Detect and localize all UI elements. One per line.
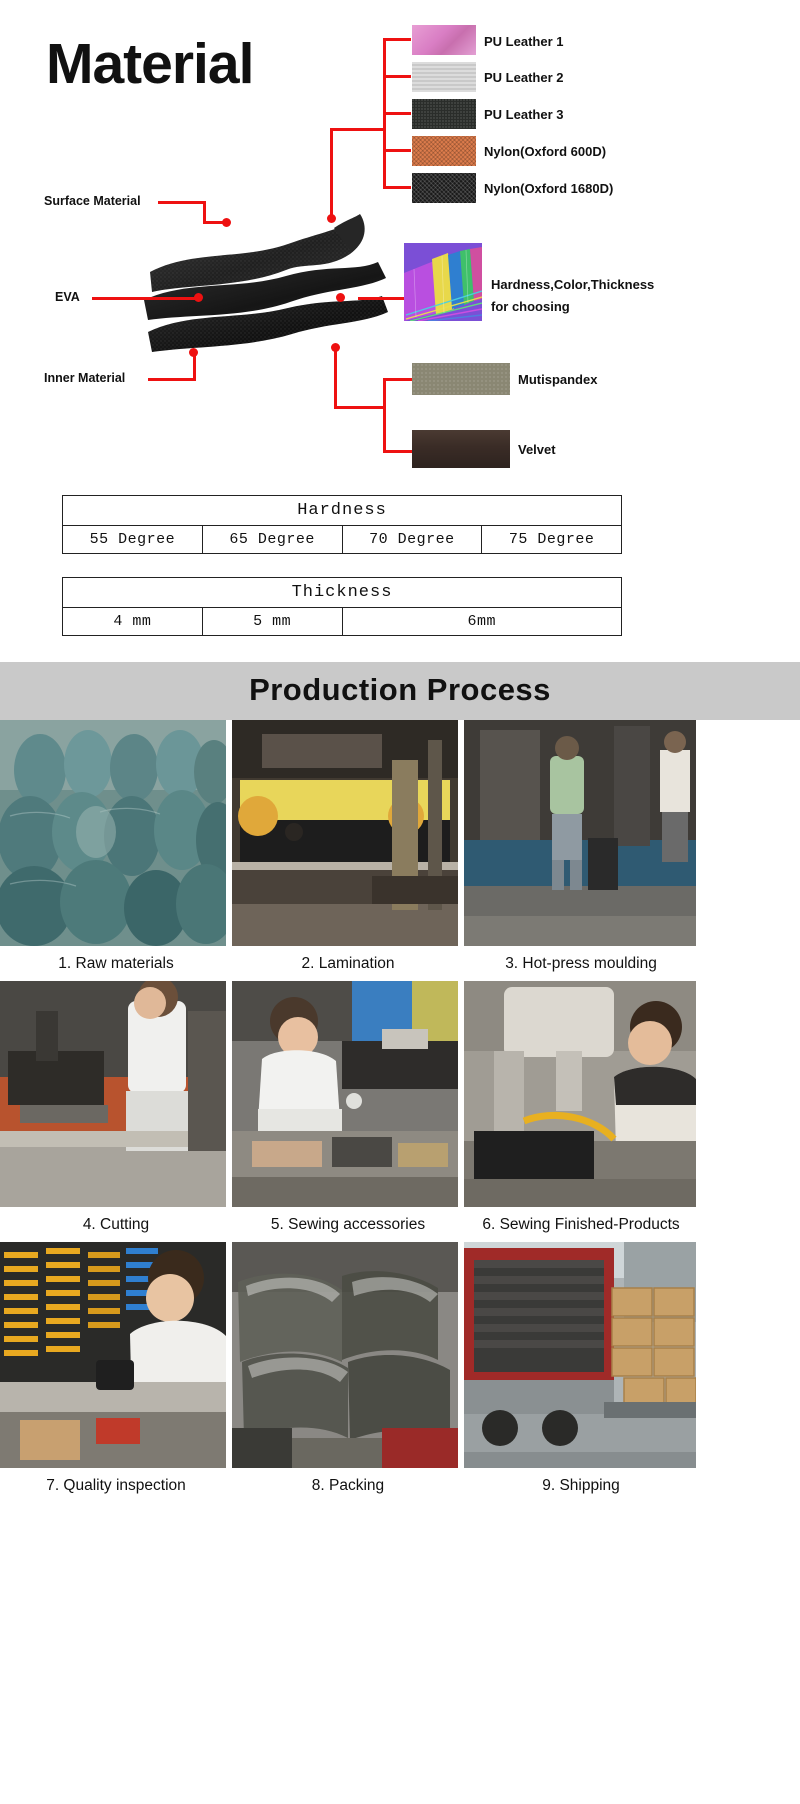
hardness-cell-3: 70 Degree (342, 526, 482, 554)
connector-surface-trunk-h (330, 128, 385, 131)
process-step-sewing-finished-products[interactable]: 6. Sewing Finished-Products (464, 981, 698, 1242)
swatch-label-nylon-1680d: Nylon(Oxford 1680D) (484, 181, 613, 196)
process-caption-7: 7. Quality inspection (0, 1468, 232, 1503)
swatch-pu-leather-1 (412, 25, 476, 55)
connector-surface-h (158, 201, 206, 204)
connector-eva-dot (194, 293, 203, 302)
process-caption-5: 5. Sewing accessories (232, 1207, 464, 1242)
connector-inner-branch-1 (383, 378, 413, 381)
connector-inner-branch-2 (383, 450, 413, 453)
production-process-banner: Production Process (0, 662, 800, 720)
photo-quality-inspection (0, 1242, 226, 1468)
production-process-title: Production Process (0, 672, 800, 708)
hardness-cell-4: 75 Degree (482, 526, 622, 554)
process-caption-9: 9. Shipping (464, 1468, 698, 1503)
swatch-label-pu-leather-1: PU Leather 1 (484, 34, 563, 49)
swatch-pu-leather-2 (412, 62, 476, 92)
hardness-value-row: 55 Degree 65 Degree 70 Degree 75 Degree (63, 526, 622, 554)
process-caption-8: 8. Packing (232, 1468, 464, 1503)
page-title: Material (46, 36, 253, 93)
connector-inner-dot (189, 348, 198, 357)
label-eva: EVA (55, 290, 80, 304)
swatch-eva-sheets (404, 243, 482, 321)
process-caption-3: 3. Hot-press moulding (464, 946, 698, 981)
swatch-label-velvet: Velvet (518, 442, 556, 457)
connector-surface-dot (222, 218, 231, 227)
process-step-hot-press-moulding[interactable]: 3. Hot-press moulding (464, 720, 698, 981)
foam-layer-diagram (120, 200, 400, 400)
label-inner-material: Inner Material (44, 371, 125, 385)
swatch-nylon-600d (412, 136, 476, 166)
thickness-header: Thickness (63, 578, 622, 608)
connector-inner-right-v (334, 347, 337, 409)
hardness-header-row: Hardness (63, 496, 622, 526)
photo-raw-materials (0, 720, 226, 946)
process-step-quality-inspection[interactable]: 7. Quality inspection (0, 1242, 232, 1503)
production-process-grid: 1. Raw materials (0, 720, 800, 1503)
hardness-table: Hardness 55 Degree 65 Degree 70 Degree 7… (62, 495, 622, 554)
swatch-label-nylon-600d: Nylon(Oxford 600D) (484, 144, 606, 159)
connector-inner-bus (383, 378, 386, 453)
photo-cutting (0, 981, 226, 1207)
connector-eva-h (92, 297, 200, 300)
process-caption-2: 2. Lamination (232, 946, 464, 981)
process-step-lamination[interactable]: 2. Lamination (232, 720, 464, 981)
swatch-label-pu-leather-2: PU Leather 2 (484, 70, 563, 85)
photo-shipping (464, 1242, 696, 1468)
connector-eva-right-dot (336, 293, 345, 302)
photo-hot-press-moulding (464, 720, 696, 946)
photo-packing (232, 1242, 458, 1468)
process-row-3: 7. Quality inspection (0, 1242, 800, 1503)
swatch-nylon-1680d (412, 173, 476, 203)
swatch-label-eva-line1: Hardness,Color,Thickness (491, 277, 654, 292)
connector-branch-2 (383, 75, 411, 78)
photo-sewing-accessories (232, 981, 458, 1207)
connector-branch-3 (383, 112, 411, 115)
thickness-table: Thickness 4 mm 5 mm 6mm (62, 577, 622, 636)
swatch-label-mutispandex: Mutispandex (518, 372, 597, 387)
process-step-raw-materials[interactable]: 1. Raw materials (0, 720, 232, 981)
material-section: Material Surface Ma (0, 0, 800, 660)
swatch-label-eva-line2: for choosing (491, 299, 570, 314)
process-caption-6: 6. Sewing Finished-Products (464, 1207, 698, 1242)
hardness-cell-1: 55 Degree (63, 526, 203, 554)
connector-surface-v (203, 201, 206, 223)
thickness-cell-2: 5 mm (202, 608, 342, 636)
connector-branch-5 (383, 186, 411, 189)
process-step-packing[interactable]: 8. Packing (232, 1242, 464, 1503)
connector-eva-right (358, 297, 408, 300)
hardness-cell-2: 65 Degree (202, 526, 342, 554)
process-row-2: 4. Cutting (0, 981, 800, 1242)
production-process-section: Production Process (0, 662, 800, 1804)
process-step-sewing-accessories[interactable]: 5. Sewing accessories (232, 981, 464, 1242)
photo-lamination (232, 720, 458, 946)
process-step-shipping[interactable]: 9. Shipping (464, 1242, 698, 1503)
thickness-value-row: 4 mm 5 mm 6mm (63, 608, 622, 636)
process-caption-4: 4. Cutting (0, 1207, 232, 1242)
connector-surface-trunk-v (330, 128, 333, 218)
thickness-cell-3: 6mm (342, 608, 622, 636)
swatch-velvet (412, 430, 510, 468)
photo-sewing-finished-products (464, 981, 696, 1207)
label-surface-material: Surface Material (44, 194, 141, 208)
hardness-header: Hardness (63, 496, 622, 526)
connector-branch-4 (383, 149, 411, 152)
process-step-cutting[interactable]: 4. Cutting (0, 981, 232, 1242)
connector-inner-right-h (334, 406, 386, 409)
process-row-1: 1. Raw materials (0, 720, 800, 981)
thickness-cell-1: 4 mm (63, 608, 203, 636)
process-caption-1: 1. Raw materials (0, 946, 232, 981)
connector-inner-h (148, 378, 196, 381)
thickness-header-row: Thickness (63, 578, 622, 608)
swatch-mutispandex (412, 363, 510, 395)
connector-surface-trunk-dot (327, 214, 336, 223)
swatch-label-pu-leather-3: PU Leather 3 (484, 107, 563, 122)
swatch-pu-leather-3 (412, 99, 476, 129)
connector-branch-1 (383, 38, 411, 41)
